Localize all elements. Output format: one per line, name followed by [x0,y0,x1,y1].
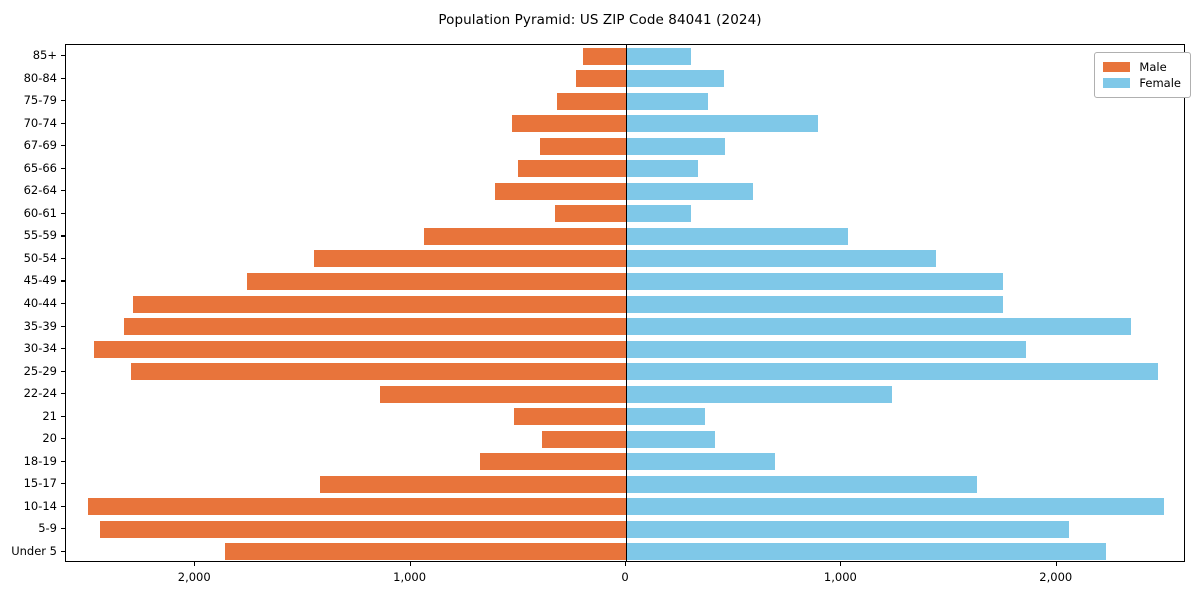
y-axis-tick-label: 80-84 [24,71,57,85]
bars-layer [66,45,1184,561]
x-axis-tick-label: 0 [621,570,628,584]
bar-female[interactable] [626,341,1026,358]
bar-row [66,296,1184,313]
bar-row [66,205,1184,222]
y-axis-tick-mark [61,326,65,327]
x-axis-tick-mark [1056,562,1057,566]
y-axis-tick-label: 85+ [33,48,57,62]
legend-label-female: Female [1139,76,1181,90]
legend-swatch-female-icon [1103,78,1130,88]
bar-male[interactable] [540,138,626,155]
y-axis-tick-label: 10-14 [24,499,57,513]
bar-row [66,453,1184,470]
bar-male[interactable] [88,498,626,515]
y-axis-tick-label: 60-61 [24,206,57,220]
y-axis-tick-label: 35-39 [24,319,57,333]
bar-row [66,318,1184,335]
y-axis-tick-mark [61,168,65,169]
bar-female[interactable] [626,115,818,132]
bar-male[interactable] [124,318,626,335]
x-axis-tick-mark [625,562,626,566]
y-axis-tick-mark [61,483,65,484]
bar-female[interactable] [626,93,708,110]
bar-female[interactable] [626,70,724,87]
y-axis-tick-label: 45-49 [24,273,57,287]
bar-male[interactable] [495,183,626,200]
bar-female[interactable] [626,160,698,177]
bar-row [66,115,1184,132]
y-axis-tick-label: 50-54 [24,251,57,265]
bar-female[interactable] [626,386,892,403]
bar-male[interactable] [320,476,626,493]
bar-male[interactable] [94,341,626,358]
bar-female[interactable] [626,521,1069,538]
bar-male[interactable] [133,296,626,313]
bar-male[interactable] [314,250,626,267]
x-axis-tick-mark [410,562,411,566]
bar-row [66,521,1184,538]
y-axis-tick-mark [61,528,65,529]
bar-row [66,386,1184,403]
bar-female[interactable] [626,228,848,245]
y-axis-tick-label: 21 [42,409,57,423]
bar-female[interactable] [626,318,1131,335]
bar-male[interactable] [557,93,626,110]
y-axis-tick-label: 15-17 [24,476,57,490]
chart-legend: Male Female [1094,52,1191,98]
bar-male[interactable] [247,273,626,290]
y-axis-tick-label: 62-64 [24,183,57,197]
y-axis-tick-label: 65-66 [24,161,57,175]
bar-row [66,543,1184,560]
bar-male[interactable] [380,386,626,403]
x-axis-tick-mark [840,562,841,566]
bar-row [66,70,1184,87]
x-axis-tick-label: 2,000 [178,570,211,584]
y-axis-tick-label: 67-69 [24,138,57,152]
y-axis-tick-label: 5-9 [38,521,57,535]
bar-female[interactable] [626,431,715,448]
bar-row [66,183,1184,200]
bar-male[interactable] [480,453,626,470]
bar-row [66,273,1184,290]
y-axis-tick-label: 40-44 [24,296,57,310]
y-axis-tick-mark [61,303,65,304]
y-axis-tick-label: 55-59 [24,228,57,242]
bar-female[interactable] [626,543,1106,560]
y-axis-tick-mark [61,235,65,236]
x-axis-tick-label: 1,000 [393,570,426,584]
legend-label-male: Male [1139,60,1166,74]
bar-row [66,138,1184,155]
legend-swatch-male-icon [1103,62,1130,72]
y-axis-tick-label: Under 5 [11,544,57,558]
y-axis-tick-mark [61,393,65,394]
bar-male[interactable] [518,160,626,177]
y-axis-tick-label: 18-19 [24,454,57,468]
y-axis-tick-label: 75-79 [24,93,57,107]
bar-female[interactable] [626,453,775,470]
bar-row [66,476,1184,493]
y-axis-tick-mark [61,145,65,146]
population-pyramid-figure: Population Pyramid: US ZIP Code 84041 (2… [0,0,1200,600]
bar-female[interactable] [626,183,753,200]
bar-female[interactable] [626,363,1158,380]
y-axis-tick-label: 25-29 [24,364,57,378]
bar-female[interactable] [626,476,977,493]
bar-female[interactable] [626,205,691,222]
y-axis-tick-mark [61,506,65,507]
bar-female[interactable] [626,296,1003,313]
bar-row [66,408,1184,425]
y-axis-tick-mark [61,416,65,417]
bar-male[interactable] [514,408,626,425]
y-axis-tick-label: 70-74 [24,116,57,130]
y-axis-tick-mark [61,190,65,191]
bar-female[interactable] [626,498,1164,515]
bar-female[interactable] [626,273,1003,290]
bar-male[interactable] [131,363,626,380]
y-axis-tick-mark [61,280,65,281]
bar-row [66,160,1184,177]
y-axis-tick-label: 22-24 [24,386,57,400]
bar-row [66,93,1184,110]
bar-male[interactable] [225,543,626,560]
bar-male[interactable] [512,115,626,132]
bar-male[interactable] [100,521,626,538]
y-axis-tick-mark [61,551,65,552]
bar-male[interactable] [424,228,626,245]
y-axis-tick-mark [61,371,65,372]
legend-entry-male[interactable]: Male [1103,59,1181,75]
bar-male[interactable] [576,70,626,87]
x-axis-tick-label: 1,000 [824,570,857,584]
bar-male[interactable] [583,48,626,65]
y-axis-tick-mark [61,100,65,101]
bar-female[interactable] [626,250,936,267]
y-axis-tick-mark [61,55,65,56]
bar-female[interactable] [626,48,691,65]
y-axis-tick-mark [61,123,65,124]
x-axis-tick-label: 2,000 [1039,570,1072,584]
y-axis-tick-label: 30-34 [24,341,57,355]
bar-female[interactable] [626,408,705,425]
bar-male[interactable] [555,205,626,222]
y-axis-tick-mark [61,78,65,79]
bar-row [66,341,1184,358]
y-axis-tick-mark [61,461,65,462]
y-axis-tick-mark [61,348,65,349]
bar-row [66,498,1184,515]
y-axis-tick-mark [61,438,65,439]
zero-axis-line [626,45,627,561]
x-axis-tick-mark [194,562,195,566]
bar-row [66,250,1184,267]
y-axis-tick-mark [61,213,65,214]
bar-row [66,228,1184,245]
bar-row [66,431,1184,448]
y-axis-tick-mark [61,258,65,259]
legend-entry-female[interactable]: Female [1103,75,1181,91]
chart-title: Population Pyramid: US ZIP Code 84041 (2… [0,12,1200,28]
plot-area [65,44,1185,562]
bar-male[interactable] [542,431,626,448]
bar-row [66,363,1184,380]
bar-female[interactable] [626,138,725,155]
bar-row [66,48,1184,65]
y-axis-tick-label: 20 [42,431,57,445]
y-axis-tick-labels: 85+80-8475-7970-7467-6965-6662-6460-6155… [0,44,57,562]
